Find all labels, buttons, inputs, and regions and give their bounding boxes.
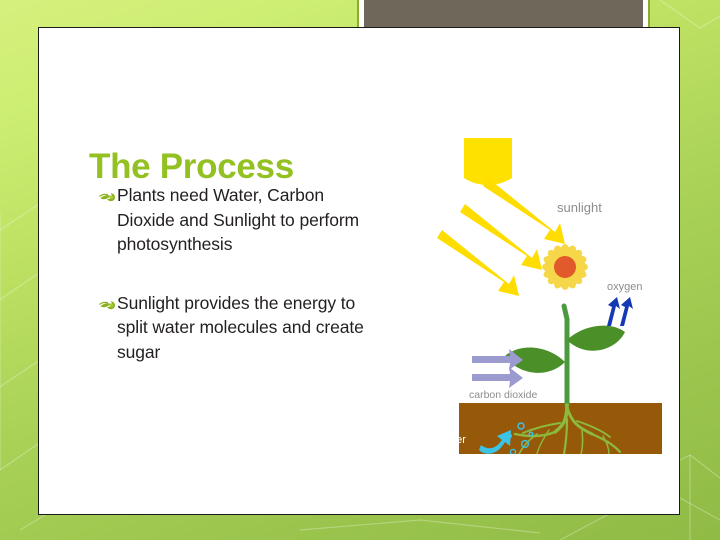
carbon-dioxide-arrows [472,349,523,388]
list-item: Sunlight provides the energy to split wa… [99,291,364,365]
oxygen-label: oxygen [607,281,642,293]
slide-canvas: The Process Plants need Water, Carbon Di… [38,27,680,515]
slide-root: The Process Plants need Water, Carbon Di… [0,0,720,540]
list-item-label: Sunlight provides the energy to split wa… [117,291,364,365]
photosynthesis-diagram: sunlight [417,134,662,454]
sunlight-label: sunlight [557,200,602,215]
sunlight-rays [437,178,565,296]
carbon-dioxide-label: carbon dioxide [469,389,537,401]
page-title: The Process [89,147,294,187]
leaf-bullet-icon [99,185,116,206]
oxygen-arrows [607,297,633,326]
list-item: Plants need Water, Carbon Dioxide and Su… [99,183,364,257]
leaf-right [567,326,625,351]
leaf-bullet-icon [99,293,116,314]
bullet-list: Plants need Water, Carbon Dioxide and Su… [99,183,364,388]
plant-stem [564,306,567,405]
water-label: water [438,434,466,446]
flower-center [554,256,576,278]
list-item-label: Plants need Water, Carbon Dioxide and Su… [117,183,364,257]
flower-head [541,243,589,291]
